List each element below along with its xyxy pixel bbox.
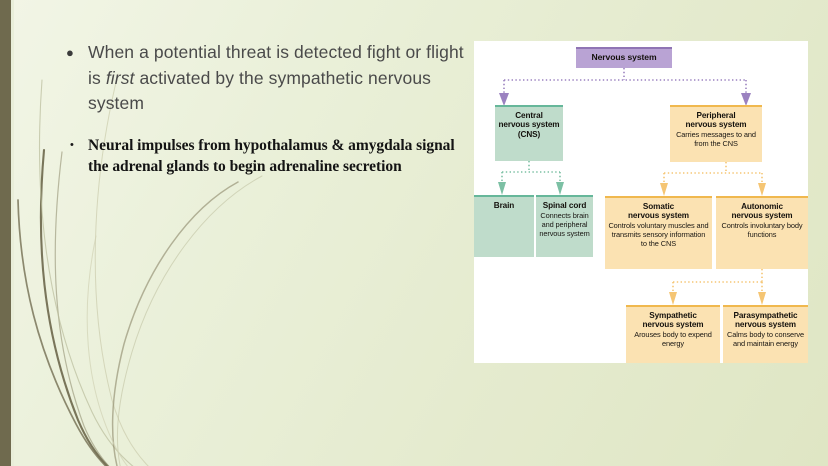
- node-central-caption-line-2: nervous system: [498, 120, 560, 129]
- bullet-text-1-emphasis: first: [106, 68, 135, 88]
- arrowhead-autonomic-icon: [758, 183, 766, 196]
- node-autonomic-nervous-system[interactable]: Autonomic nervous system Controls involu…: [716, 196, 808, 269]
- bullet-marker-1: ●: [66, 40, 88, 65]
- node-spinal-cord[interactable]: Spinal cord Connects brain and periphera…: [536, 195, 593, 257]
- node-autonomic-caption-line-2: nervous system: [719, 211, 805, 220]
- node-central-caption-line-1: Central: [498, 111, 560, 120]
- arrowhead-parasympathetic-icon: [758, 292, 766, 305]
- slide-canvas: ● When a potential threat is detected fi…: [0, 0, 828, 466]
- left-accent-strip: [11, 0, 14, 466]
- bullet-text-1: When a potential threat is detected figh…: [88, 40, 466, 117]
- node-peripheral-caption-line-2: nervous system: [673, 120, 759, 129]
- node-peripheral-caption-line-1: Peripheral: [673, 111, 759, 120]
- left-accent-bar: [0, 0, 11, 466]
- node-parasympathetic-nervous-system[interactable]: Parasympathetic nervous system Calms bod…: [723, 305, 808, 363]
- node-sympathetic-caption-line-1: Sympathetic: [629, 311, 717, 320]
- bullet-marker-2: •: [66, 135, 88, 156]
- node-spinal-cord-description: Connects brain and peripheral nervous sy…: [539, 211, 590, 238]
- arrowhead-somatic-icon: [660, 183, 668, 196]
- bullet-item-2: • Neural impulses from hypothalamus & am…: [66, 135, 466, 177]
- nervous-system-diagram: Nervous system Central nervous system (C…: [474, 41, 808, 363]
- bullet-text-1-part-c: activated by the sympathetic nervous sys…: [88, 68, 431, 114]
- node-somatic-caption-line-1: Somatic: [608, 202, 709, 211]
- bullet-text-2: Neural impulses from hypothalamus & amyg…: [88, 135, 466, 177]
- node-parasympathetic-description: Calms body to conserve and maintain ener…: [726, 330, 805, 348]
- arrowhead-sympathetic-icon: [669, 292, 677, 305]
- node-parasympathetic-caption-line-2: nervous system: [726, 320, 805, 329]
- node-central-nervous-system[interactable]: Central nervous system (CNS): [495, 105, 563, 161]
- node-spinal-cord-caption: Spinal cord: [539, 201, 590, 210]
- node-central-caption-line-3: (CNS): [498, 130, 560, 139]
- node-somatic-description: Controls voluntary muscles and transmits…: [608, 221, 709, 248]
- bullet-item-1: ● When a potential threat is detected fi…: [66, 40, 466, 117]
- node-autonomic-description: Controls involuntary body functions: [719, 221, 805, 239]
- node-brain[interactable]: Brain: [474, 195, 534, 257]
- node-brain-caption: Brain: [477, 201, 531, 210]
- node-autonomic-caption-line-1: Autonomic: [719, 202, 805, 211]
- slide-body-text: ● When a potential threat is detected fi…: [66, 40, 466, 177]
- node-parasympathetic-caption-line-1: Parasympathetic: [726, 311, 805, 320]
- arrowhead-spinal-icon: [556, 182, 564, 195]
- node-nervous-system[interactable]: Nervous system: [576, 47, 672, 68]
- node-peripheral-nervous-system[interactable]: Peripheral nervous system Carries messag…: [670, 105, 762, 162]
- node-nervous-system-caption: Nervous system: [579, 53, 669, 62]
- node-sympathetic-description: Arouses body to expend energy: [629, 330, 717, 348]
- node-somatic-caption-line-2: nervous system: [608, 211, 709, 220]
- node-sympathetic-caption-line-2: nervous system: [629, 320, 717, 329]
- node-sympathetic-nervous-system[interactable]: Sympathetic nervous system Arouses body …: [626, 305, 720, 363]
- arrowhead-brain-icon: [498, 182, 506, 195]
- node-peripheral-description: Carries messages to and from the CNS: [673, 130, 759, 148]
- node-somatic-nervous-system[interactable]: Somatic nervous system Controls voluntar…: [605, 196, 712, 269]
